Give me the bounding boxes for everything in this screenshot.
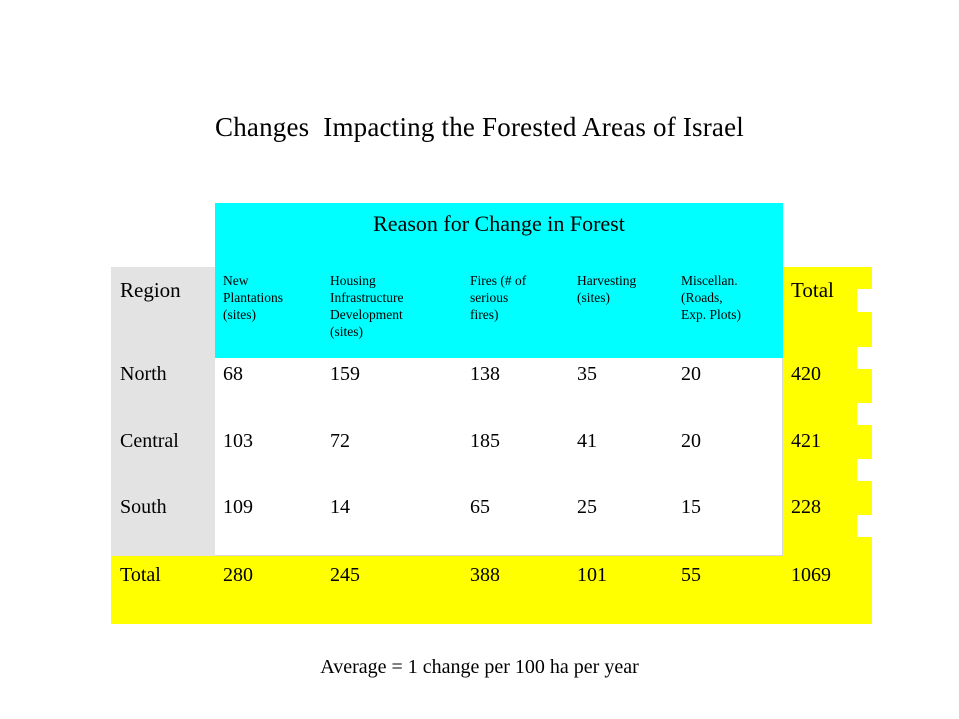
total-column-notch: [857, 425, 872, 459]
total-row-notch: [857, 568, 872, 602]
cell-total-miscellaneous: 55: [681, 562, 701, 588]
total-header-label: Total: [791, 277, 834, 303]
cell-north-total: 420: [791, 361, 821, 387]
cell-south-housing-infrastructure: 14: [330, 494, 350, 520]
column-header-housing-infrastructure: Housing Infrastructure Development (site…: [330, 272, 403, 340]
cell-total-housing-infrastructure: 245: [330, 562, 360, 588]
total-column-notch: [857, 481, 872, 515]
cell-south-new-plantations: 109: [223, 494, 253, 520]
cell-central-total: 421: [791, 428, 821, 454]
cell-grand-total: 1069: [791, 562, 831, 588]
cell-central-harvesting: 41: [577, 428, 597, 454]
column-header-new-plantations: New Plantations (sites): [223, 272, 283, 323]
total-column-notch: [857, 537, 872, 556]
column-header-miscellaneous: Miscellan. (Roads, Exp. Plots): [681, 272, 741, 323]
column-header-fires: Fires (# of serious fires): [470, 272, 526, 323]
row-label-total: Total: [120, 562, 161, 588]
cell-south-total: 228: [791, 494, 821, 520]
cell-north-new-plantations: 68: [223, 361, 243, 387]
row-label-south: South: [120, 494, 167, 520]
total-column-notch: [857, 369, 872, 403]
cell-central-housing-infrastructure: 72: [330, 428, 350, 454]
column-header-harvesting: Harvesting (sites): [577, 272, 636, 306]
total-column-notch: [857, 267, 872, 289]
total-column-notch: [857, 312, 872, 347]
cell-total-fires: 388: [470, 562, 500, 588]
cell-central-new-plantations: 103: [223, 428, 253, 454]
cell-total-new-plantations: 280: [223, 562, 253, 588]
cell-central-miscellaneous: 20: [681, 428, 701, 454]
region-header-label: Region: [120, 277, 181, 303]
cell-south-harvesting: 25: [577, 494, 597, 520]
cell-south-fires: 65: [470, 494, 490, 520]
row-label-north: North: [120, 361, 167, 387]
data-body-background: [215, 358, 783, 556]
cell-south-miscellaneous: 15: [681, 494, 701, 520]
cell-total-harvesting: 101: [577, 562, 607, 588]
data-table: Reason for Change in Forest Region Total…: [0, 0, 959, 719]
row-label-central: Central: [120, 428, 179, 454]
cell-north-miscellaneous: 20: [681, 361, 701, 387]
group-header-label: Reason for Change in Forest: [215, 210, 783, 238]
cell-north-fires: 138: [470, 361, 500, 387]
cell-north-harvesting: 35: [577, 361, 597, 387]
footer-note: Average = 1 change per 100 ha per year: [0, 654, 959, 680]
cell-north-housing-infrastructure: 159: [330, 361, 360, 387]
cell-central-fires: 185: [470, 428, 500, 454]
